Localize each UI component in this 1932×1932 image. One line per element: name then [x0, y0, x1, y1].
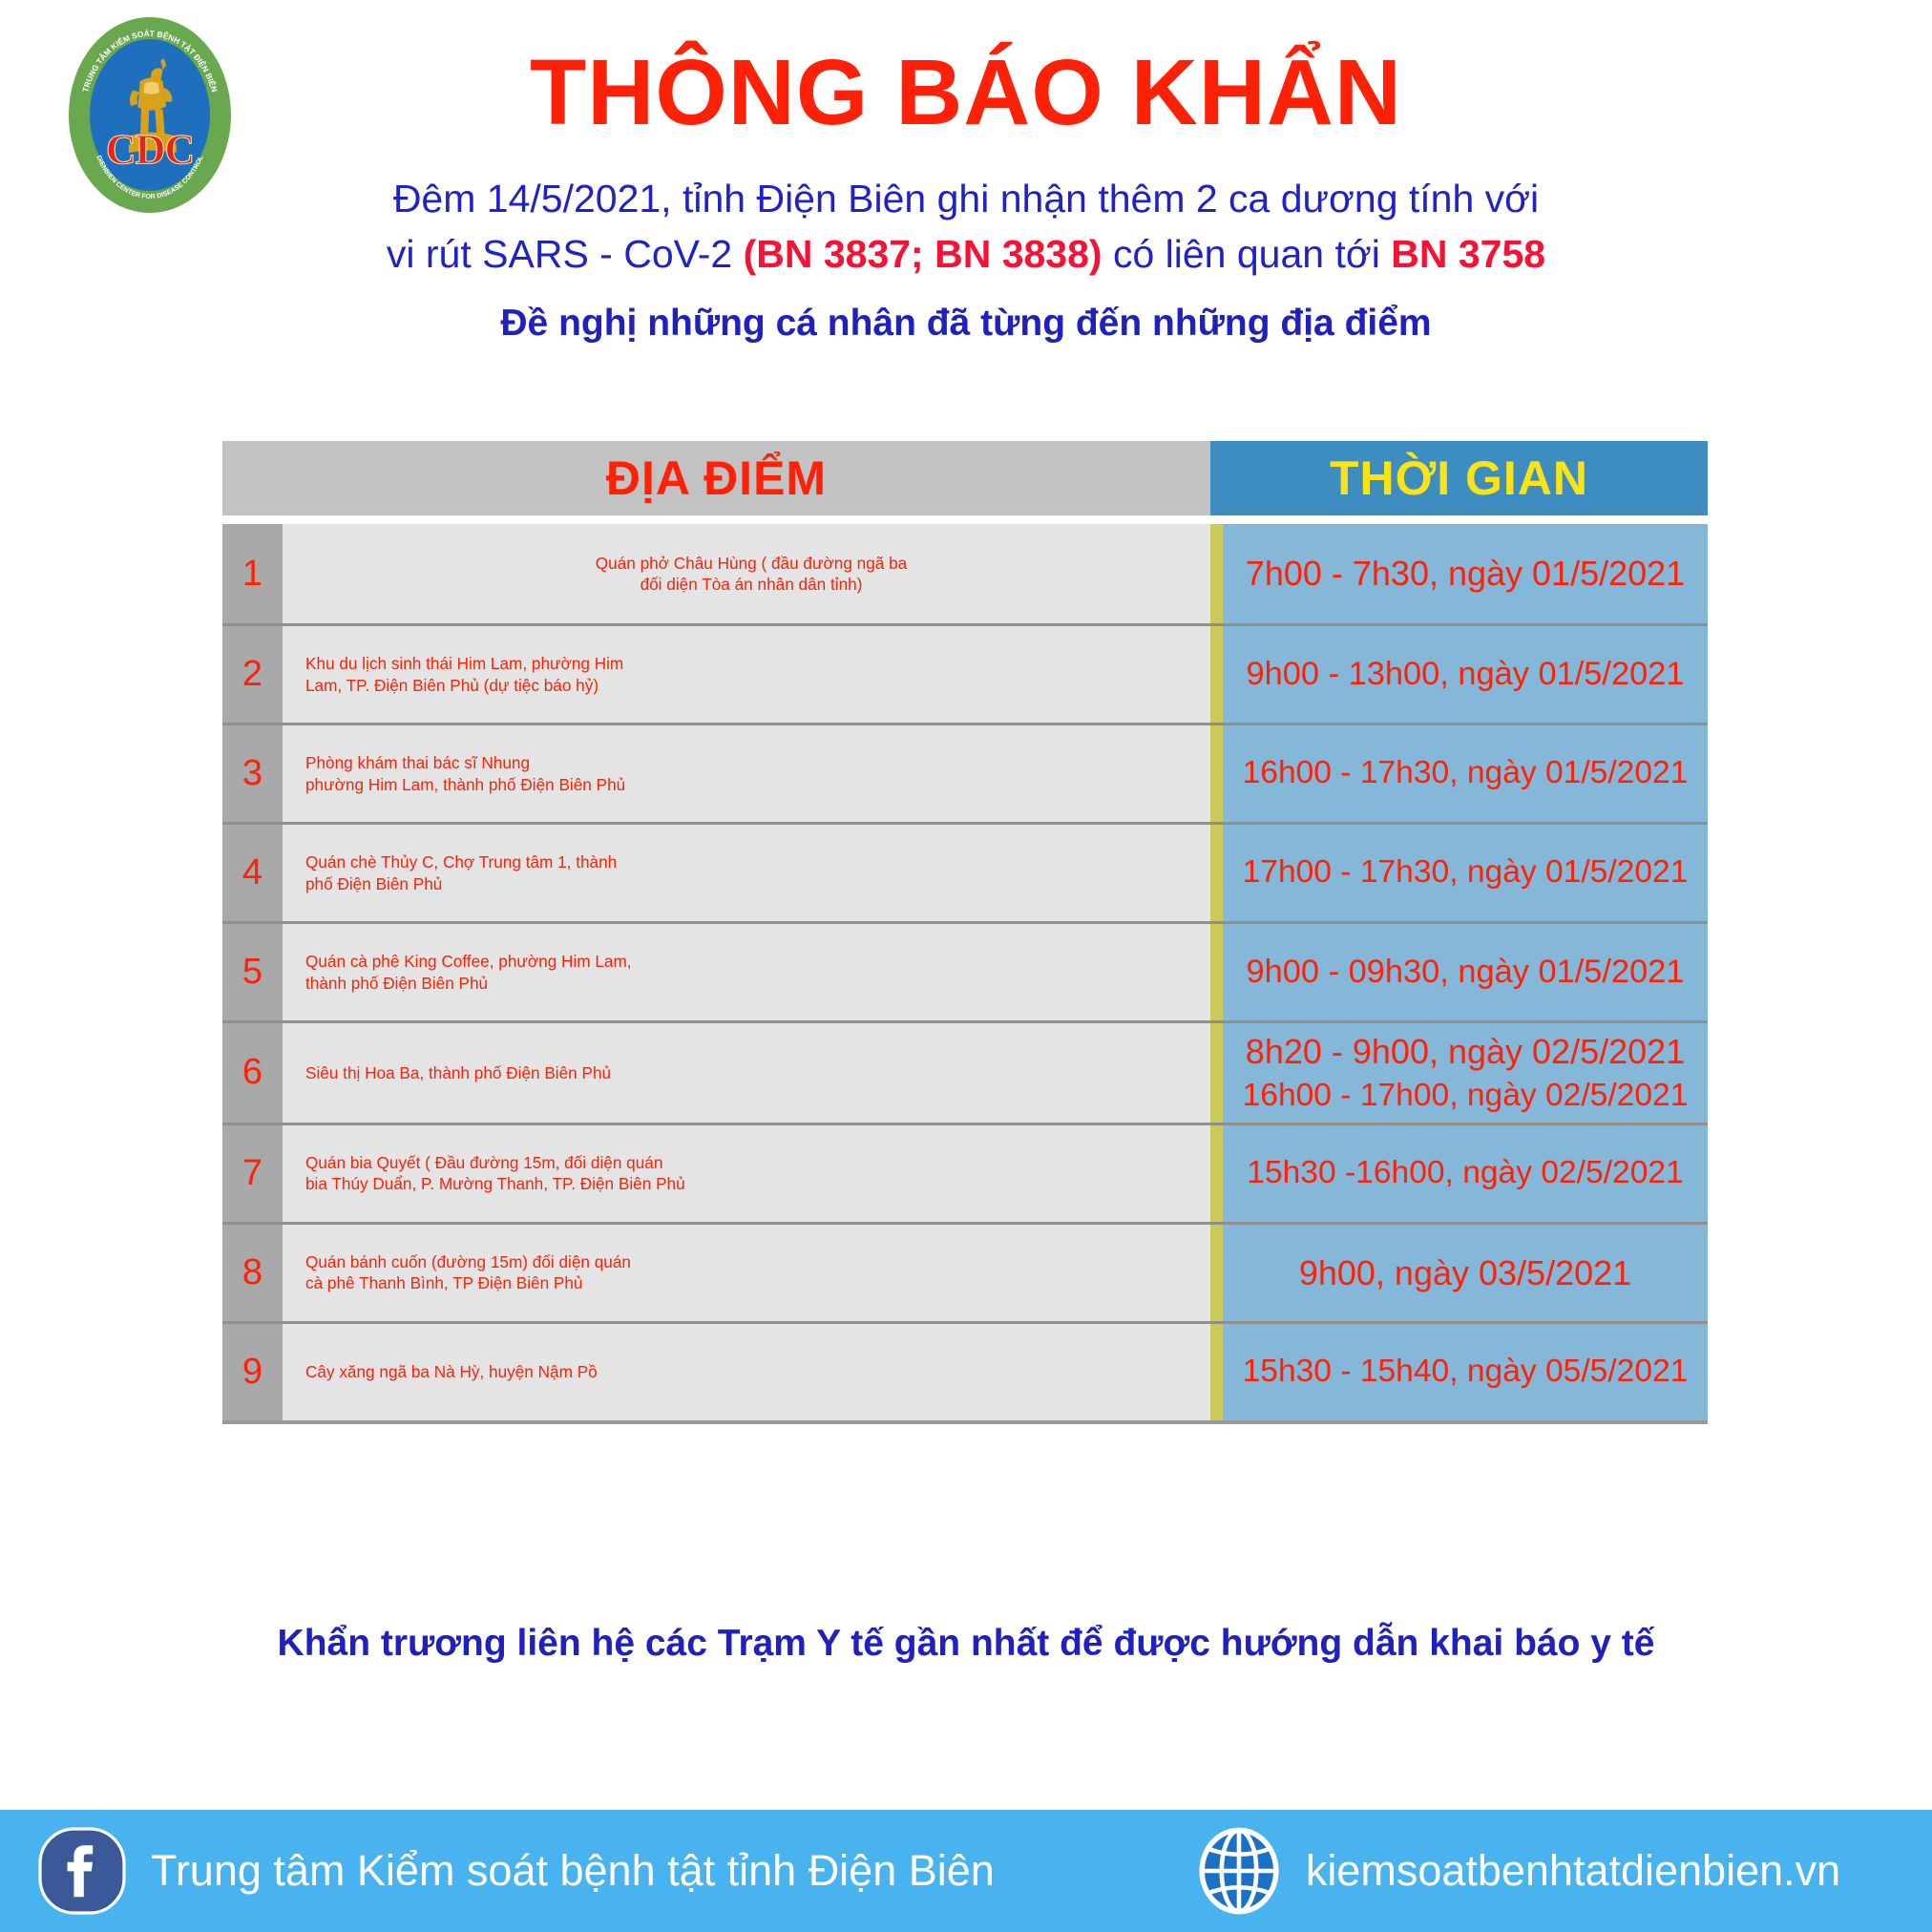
location-cell: Quán cà phê King Coffee, phường Him Lam,… — [283, 924, 1210, 1020]
row-number: 9 — [222, 1324, 283, 1420]
time-cell: 17h00 - 17h30, ngày 01/5/2021 — [1210, 825, 1708, 921]
column-header-time-label: THỜI GIAN — [1330, 451, 1588, 506]
location-line: Lam, TP. Điện Biên Phủ (dự tiệc báo hỷ) — [305, 675, 1197, 696]
time-line: 16h00 - 17h00, ngày 02/5/2021 — [1243, 1075, 1689, 1117]
time-cell: 8h20 - 9h00, ngày 02/5/202116h00 - 17h00… — [1210, 1023, 1708, 1123]
call-to-action-text: Khẩn trương liên hệ các Trạm Y tế gần nh… — [0, 1623, 1932, 1665]
time-cell: 15h30 -16h00, ngày 02/5/2021 — [1210, 1125, 1708, 1222]
subtitle-part-c: có liên quan tới — [1102, 232, 1392, 276]
website-link[interactable]: kiemsoatbenhtatdienbien.vn — [1195, 1827, 1840, 1915]
table-body: 1Quán phở Châu Hùng ( đầu đường ngã bađố… — [222, 524, 1708, 1424]
location-line: Quán chè Thủy C, Chợ Trung tâm 1, thành — [305, 851, 1197, 872]
location-cell: Quán bánh cuốn (đường 15m) đối diện quán… — [283, 1225, 1210, 1321]
footer-bar: Trung tâm Kiểm soát bệnh tật tỉnh Điện B… — [0, 1810, 1932, 1932]
time-cell: 7h00 - 7h30, ngày 01/5/2021 — [1210, 524, 1708, 623]
location-cell: Siêu thị Hoa Ba, thành phố Điện Biên Phủ — [283, 1023, 1210, 1123]
location-line: Quán bánh cuốn (đường 15m) đối diện quán — [305, 1251, 1197, 1272]
time-cell: 16h00 - 17h30, ngày 01/5/2021 — [1210, 725, 1708, 822]
time-line: 7h00 - 7h30, ngày 01/5/2021 — [1246, 551, 1685, 597]
location-line: thành phố Điện Biên Phủ — [305, 973, 1197, 994]
table-row: 4Quán chè Thủy C, Chợ Trung tâm 1, thành… — [222, 822, 1708, 921]
row-number: 1 — [222, 524, 283, 623]
subtitle-line-2: vi rút SARS - CoV-2 (BN 3837; BN 3838) c… — [0, 226, 1932, 282]
location-line: cà phê Thanh Bình, TP Điện Biên Phủ — [305, 1272, 1197, 1293]
column-header-place: ĐỊA ĐIỂM — [222, 441, 1210, 515]
facebook-link[interactable]: Trung tâm Kiểm soát bệnh tật tỉnh Điện B… — [36, 1825, 995, 1917]
time-cell: 9h00 - 09h30, ngày 01/5/2021 — [1210, 924, 1708, 1020]
location-line: Siêu thị Hoa Ba, thành phố Điện Biên Phủ — [305, 1062, 1197, 1083]
case-numbers-new: (BN 3837; BN 3838) — [744, 232, 1102, 276]
row-number: 6 — [222, 1023, 283, 1123]
location-cell: Quán chè Thủy C, Chợ Trung tâm 1, thànhp… — [283, 825, 1210, 921]
time-line: 9h00 - 09h30, ngày 01/5/2021 — [1247, 951, 1685, 994]
location-line: bia Thúy Duẩn, P. Mường Thanh, TP. Điện … — [305, 1173, 1197, 1194]
row-number: 4 — [222, 825, 283, 921]
table-row: 7Quán bia Quyết ( Đầu đường 15m, đối diệ… — [222, 1123, 1708, 1222]
location-cell: Cây xăng ngã ba Nà Hỳ, huyện Nậm Pồ — [283, 1324, 1210, 1420]
time-cell: 9h00, ngày 03/5/2021 — [1210, 1225, 1708, 1321]
row-number: 7 — [222, 1125, 283, 1222]
location-cell: Quán phở Châu Hùng ( đầu đường ngã bađối… — [283, 524, 1210, 623]
page-title: THÔNG BÁO KHẨN — [0, 0, 1932, 138]
time-line: 17h00 - 17h30, ngày 01/5/2021 — [1243, 851, 1689, 893]
website-url[interactable]: kiemsoatbenhtatdienbien.vn — [1306, 1846, 1840, 1896]
location-line: phường Him Lam, thành phố Điện Biên Phủ — [305, 774, 1197, 795]
location-line: đối diện Tòa án nhân dân tỉnh) — [305, 574, 1197, 595]
column-header-time: THỜI GIAN — [1210, 441, 1708, 515]
location-line: Quán phở Châu Hùng ( đầu đường ngã ba — [305, 553, 1197, 574]
location-line: Quán cà phê King Coffee, phường Him Lam, — [305, 951, 1197, 972]
table-row: 9Cây xăng ngã ba Nà Hỳ, huyện Nậm Pồ15h3… — [222, 1321, 1708, 1420]
globe-icon[interactable] — [1195, 1827, 1283, 1915]
facebook-icon[interactable] — [36, 1825, 128, 1917]
logo-acronym: CDC — [69, 125, 231, 174]
time-cell: 9h00 - 13h00, ngày 01/5/2021 — [1210, 626, 1708, 723]
subtitle-part-a: vi rút SARS - CoV-2 — [387, 232, 744, 276]
location-cell: Khu du lịch sinh thái Him Lam, phường Hi… — [283, 626, 1210, 723]
table-row: 3Phòng khám thai bác sĩ Nhungphường Him … — [222, 723, 1708, 822]
locations-table: ĐỊA ĐIỂM THỜI GIAN 1Quán phở Châu Hùng (… — [222, 441, 1708, 1424]
location-line: Phòng khám thai bác sĩ Nhung — [305, 752, 1197, 773]
location-line: Cây xăng ngã ba Nà Hỳ, huyện Nậm Pồ — [305, 1361, 1197, 1382]
time-cell: 15h30 - 15h40, ngày 05/5/2021 — [1210, 1324, 1708, 1420]
location-cell: Quán bia Quyết ( Đầu đường 15m, đối diện… — [283, 1125, 1210, 1222]
subtitle-line-3: Đề nghị những cá nhân đã từng đến những … — [0, 282, 1932, 345]
table-row: 5Quán cà phê King Coffee, phường Him Lam… — [222, 921, 1708, 1020]
row-number: 2 — [222, 626, 283, 723]
table-row: 2Khu du lịch sinh thái Him Lam, phường H… — [222, 623, 1708, 723]
location-line: Quán bia Quyết ( Đầu đường 15m, đối diện… — [305, 1152, 1197, 1173]
column-header-place-label: ĐỊA ĐIỂM — [606, 451, 827, 506]
cdc-logo: TRUNG TÂM KIỂM SOÁT BỆNH TẬT ĐIỆN BIÊN D… — [69, 17, 231, 213]
time-line: 8h20 - 9h00, ngày 02/5/2021 — [1246, 1029, 1685, 1075]
location-cell: Phòng khám thai bác sĩ Nhungphường Him L… — [283, 725, 1210, 822]
time-line: 9h00, ngày 03/5/2021 — [1299, 1250, 1631, 1296]
time-line: 9h00 - 13h00, ngày 01/5/2021 — [1247, 653, 1685, 696]
time-line: 16h00 - 17h30, ngày 01/5/2021 — [1243, 752, 1689, 794]
row-number: 5 — [222, 924, 283, 1020]
row-number: 3 — [222, 725, 283, 822]
case-number-linked: BN 3758 — [1391, 232, 1545, 276]
infographic-page: TRUNG TÂM KIỂM SOÁT BỆNH TẬT ĐIỆN BIÊN D… — [0, 0, 1932, 1932]
header-section: TRUNG TÂM KIỂM SOÁT BỆNH TẬT ĐIỆN BIÊN D… — [0, 0, 1932, 420]
table-row: 6Siêu thị Hoa Ba, thành phố Điện Biên Ph… — [222, 1020, 1708, 1123]
table-row: 8Quán bánh cuốn (đường 15m) đối diện quá… — [222, 1222, 1708, 1321]
table-row: 1Quán phở Châu Hùng ( đầu đường ngã bađố… — [222, 524, 1708, 623]
location-line: phố Điện Biên Phủ — [305, 873, 1197, 894]
location-line: Khu du lịch sinh thái Him Lam, phường Hi… — [305, 653, 1197, 674]
table-header-row: ĐỊA ĐIỂM THỜI GIAN — [222, 441, 1708, 515]
time-line: 15h30 - 15h40, ngày 05/5/2021 — [1243, 1351, 1689, 1393]
subtitle-line-1: Đêm 14/5/2021, tỉnh Điện Biên ghi nhận t… — [0, 138, 1932, 226]
facebook-page-name[interactable]: Trung tâm Kiểm soát bệnh tật tỉnh Điện B… — [151, 1846, 995, 1896]
time-line: 15h30 -16h00, ngày 02/5/2021 — [1247, 1152, 1683, 1194]
row-number: 8 — [222, 1225, 283, 1321]
